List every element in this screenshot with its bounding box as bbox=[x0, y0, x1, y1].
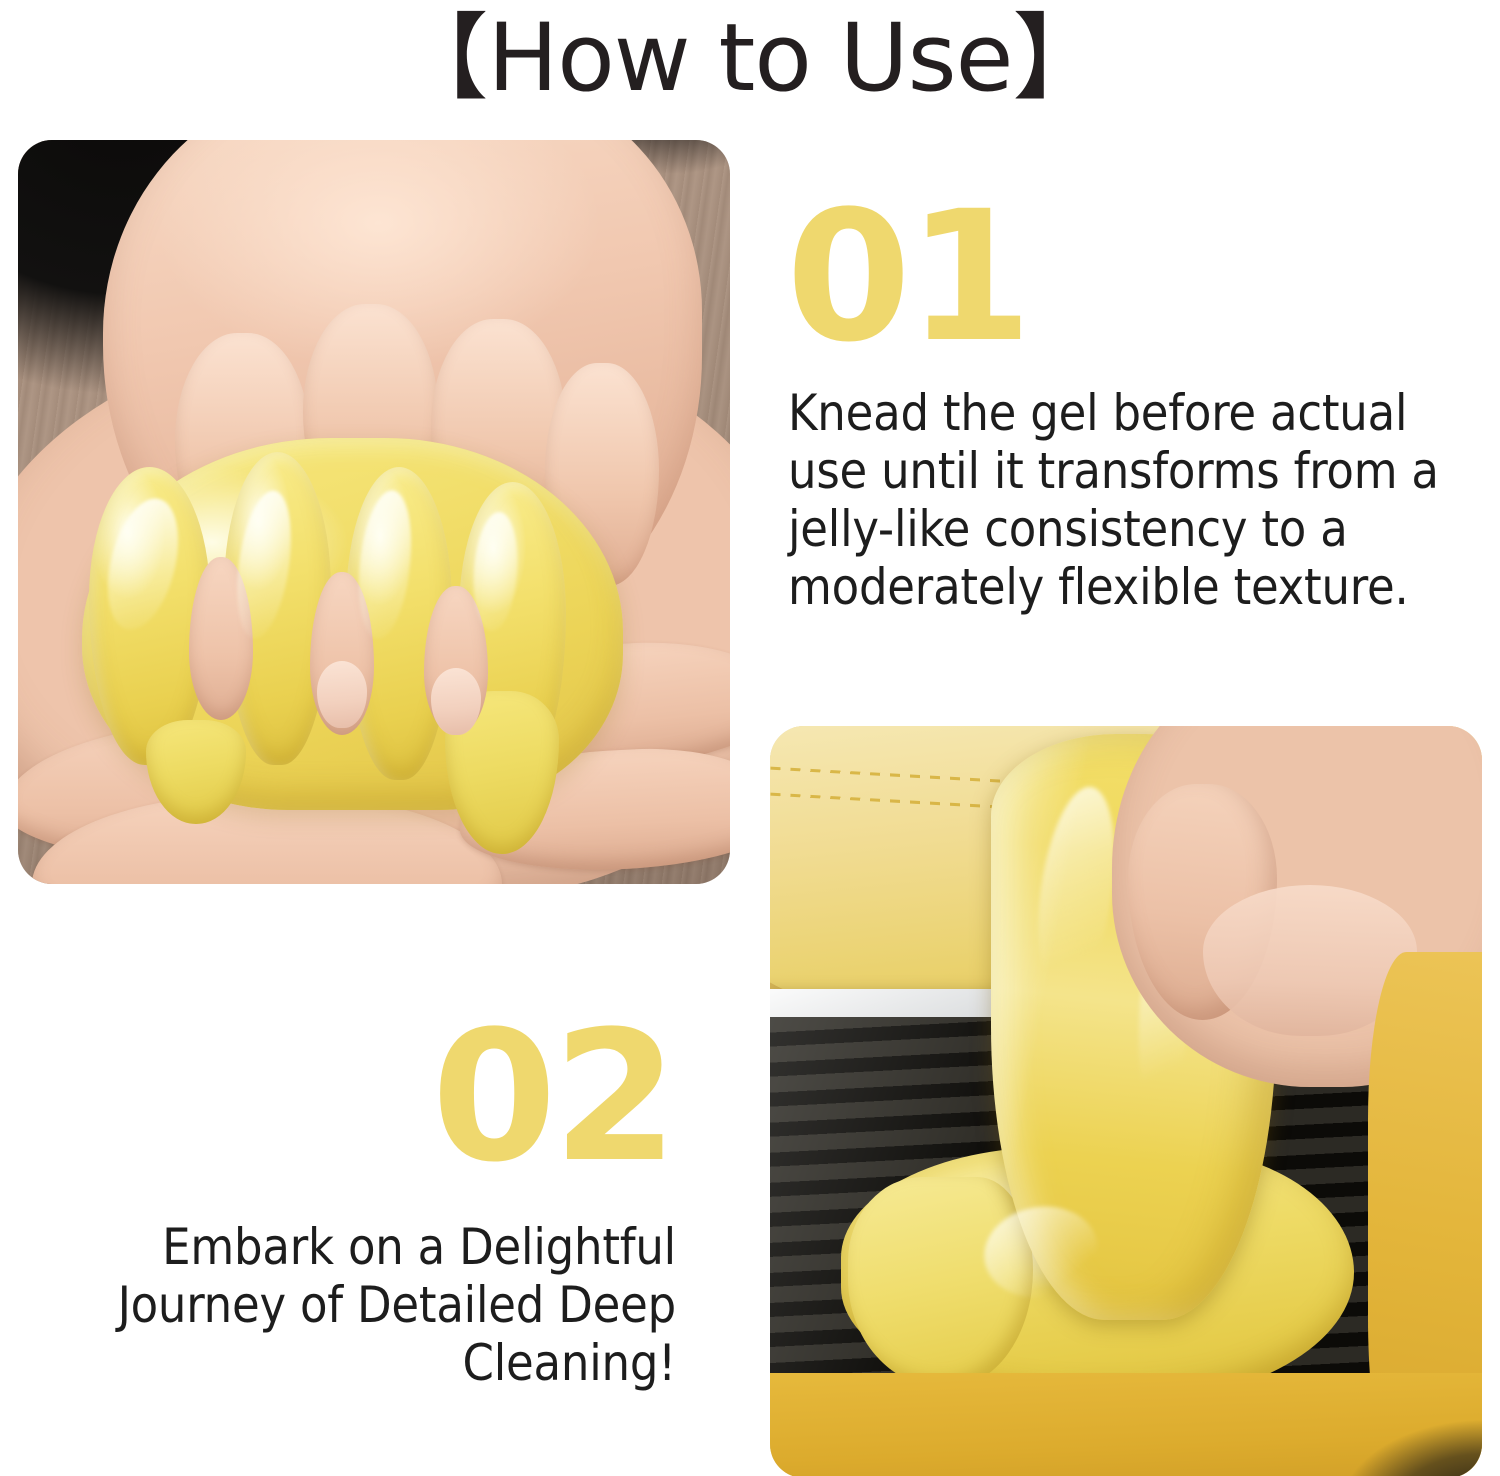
photo-knead-gel bbox=[18, 140, 730, 884]
step-2-body-text: Embark on a Delightful Journey of Detail… bbox=[28, 1218, 676, 1392]
how-to-use-infographic: 【How to Use】 bbox=[0, 0, 1500, 1476]
fingernail-1 bbox=[317, 661, 367, 728]
step-1-number: 01 bbox=[786, 188, 1029, 368]
step-1-body-text: Knead the gel before actual use until it… bbox=[788, 384, 1488, 616]
photo-gel-car-vent bbox=[770, 726, 1482, 1476]
page-title-bar: 【How to Use】 bbox=[0, 0, 1500, 118]
step-2-number: 02 bbox=[330, 1008, 674, 1188]
page-title: 【How to Use】 bbox=[395, 12, 1106, 106]
fingernail-2 bbox=[431, 668, 481, 735]
